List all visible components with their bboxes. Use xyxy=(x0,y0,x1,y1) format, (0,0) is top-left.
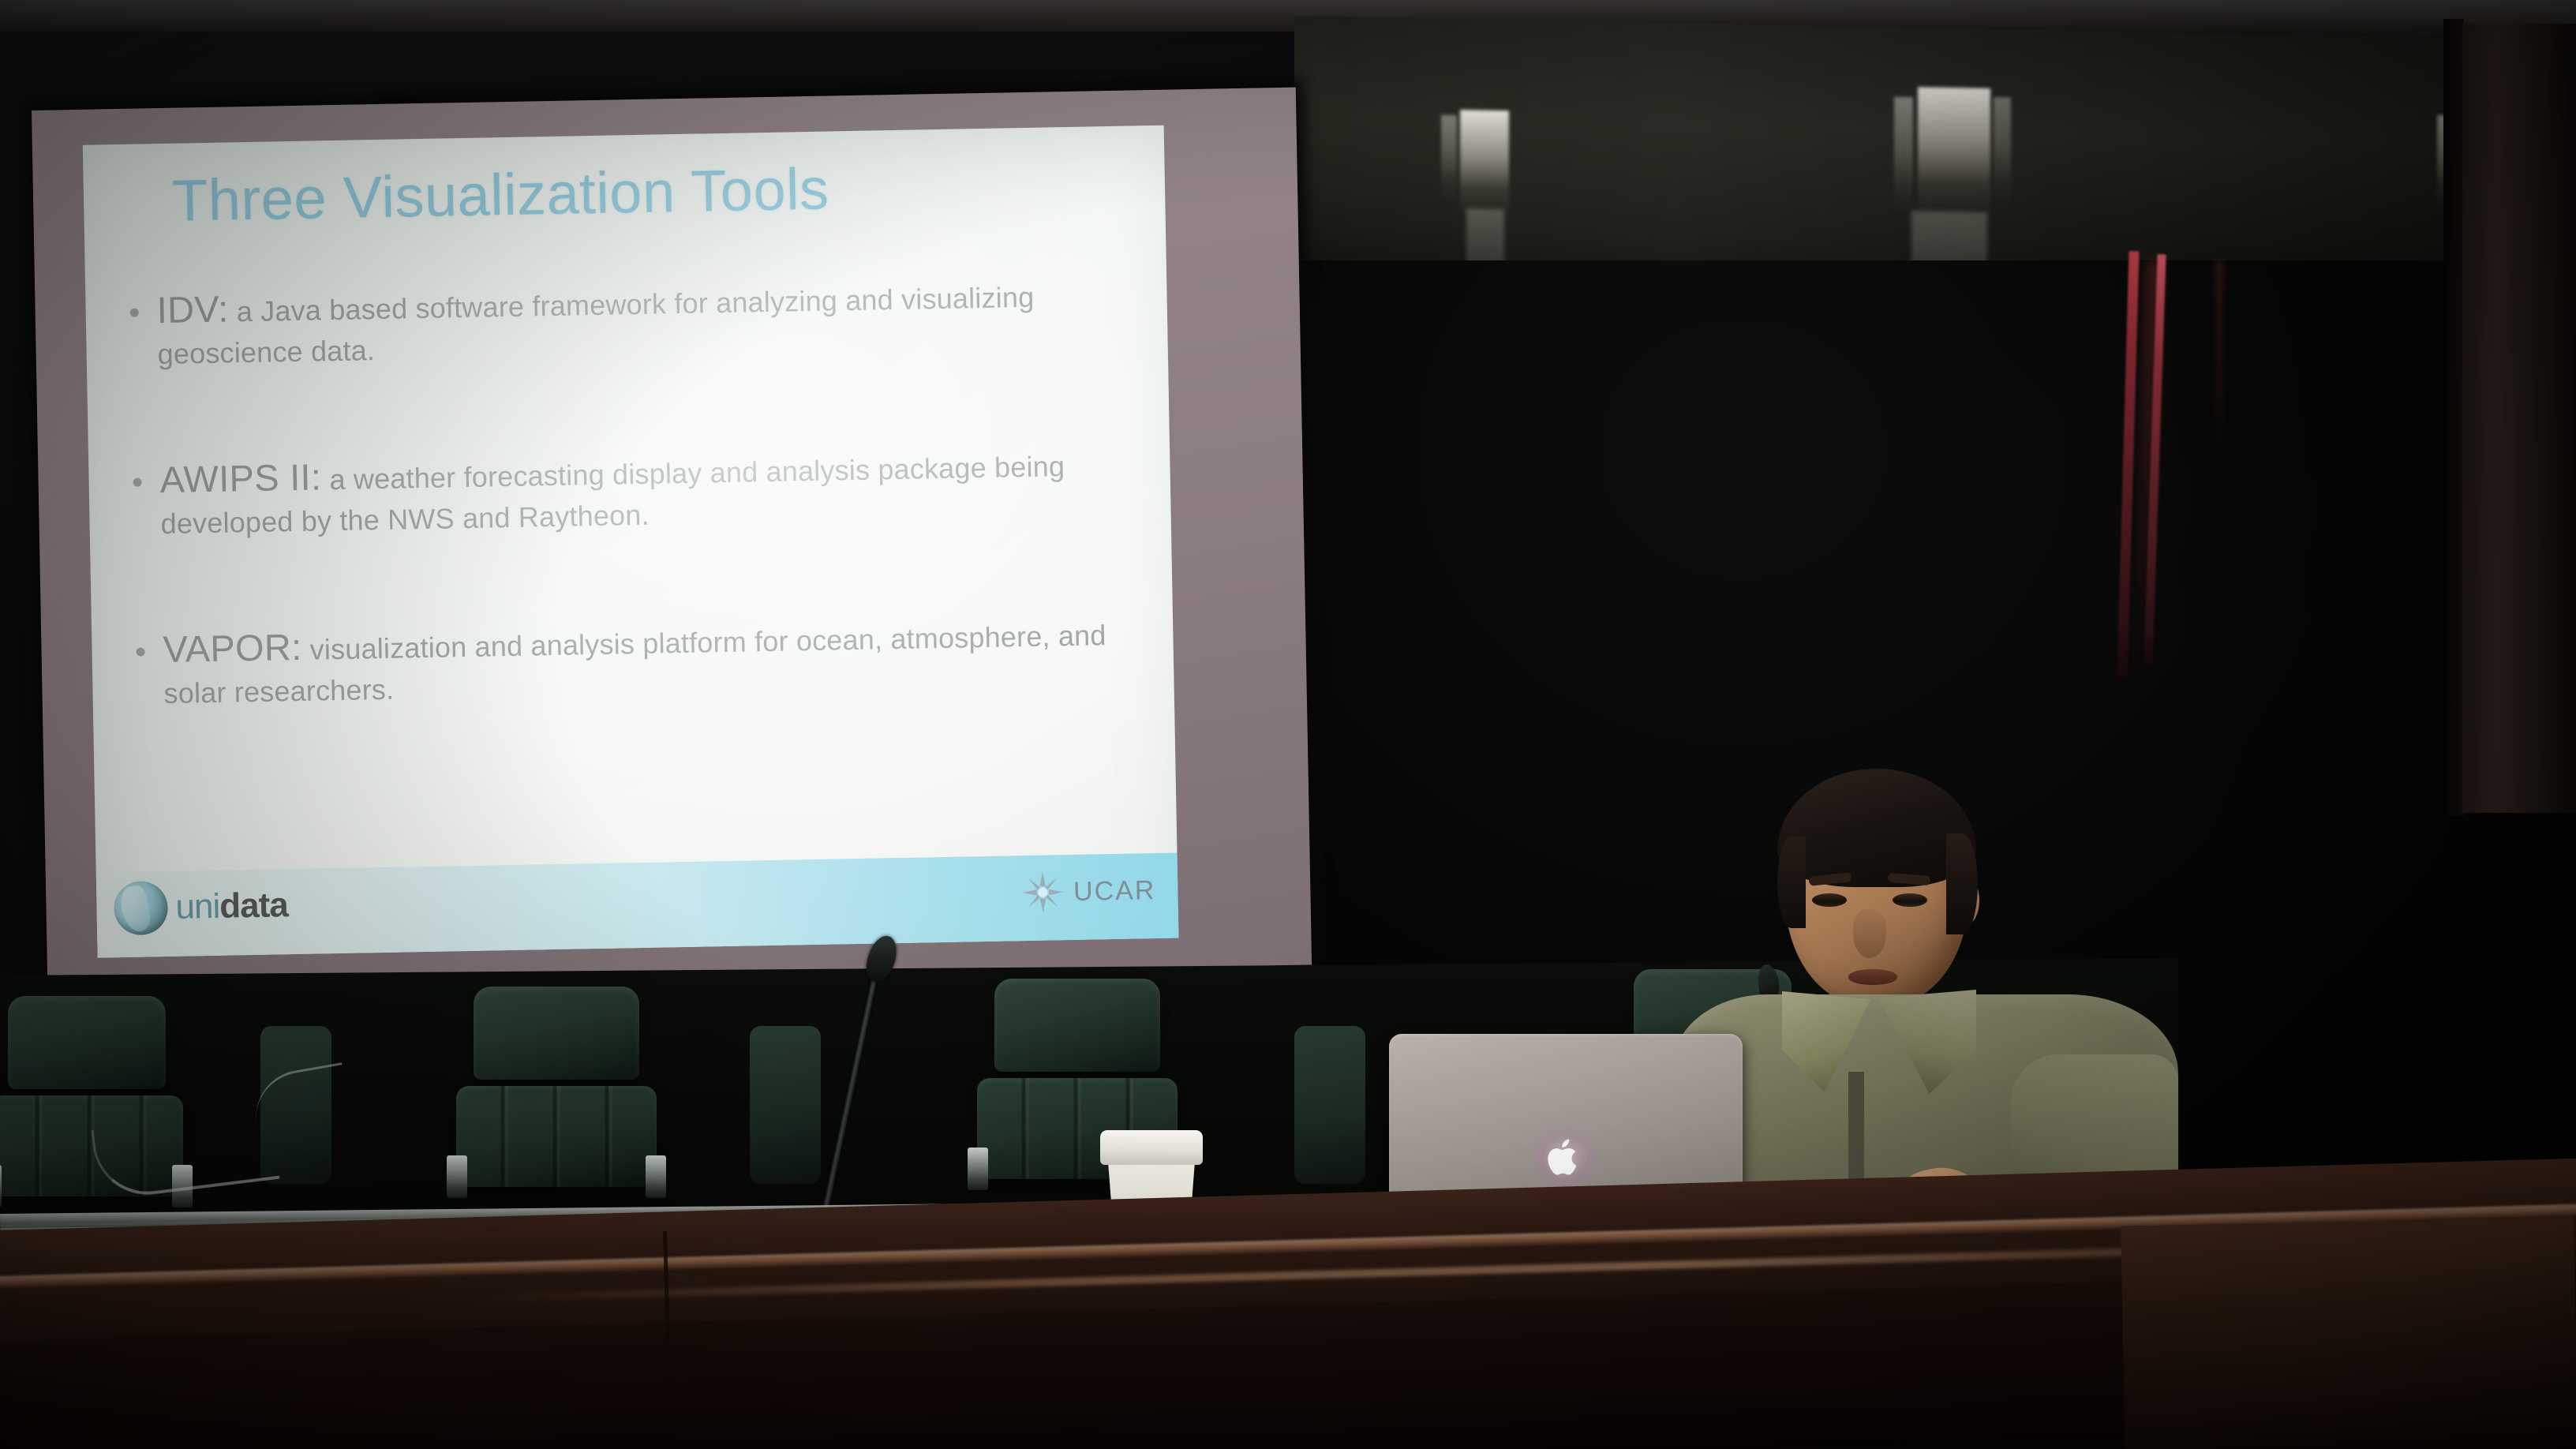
chair-headrest xyxy=(994,979,1160,1072)
desk-right-panel xyxy=(2121,1218,2576,1449)
chair-seatback xyxy=(456,1086,657,1187)
bullet-lead-label: VAPOR: xyxy=(163,626,302,670)
chair-headrest xyxy=(474,987,639,1080)
unidata-data-text: data xyxy=(219,885,288,926)
chair-grooves xyxy=(456,1086,657,1187)
presenter-hair-side xyxy=(1946,833,1978,934)
bullet-body-text: visualization and analysis platform for … xyxy=(163,620,1106,710)
light-reflection xyxy=(1894,97,1913,215)
presenter-eye xyxy=(1812,893,1847,907)
unidata-uni-text: uni xyxy=(175,887,220,927)
chair-armrest xyxy=(0,1165,2,1207)
apple-logo-icon xyxy=(1544,1133,1585,1181)
ucar-wordmark: UCAR xyxy=(1073,875,1156,908)
cup-lid xyxy=(1100,1130,1203,1165)
bullet-dot-icon xyxy=(133,478,142,487)
wall-column-edge xyxy=(2443,19,2464,816)
chair-armrest xyxy=(646,1155,666,1198)
light-reflection xyxy=(1994,97,2011,208)
slide-bullet-list: IDV: a Java based software framework for… xyxy=(115,268,1149,713)
chair-partial xyxy=(1294,1026,1365,1184)
presenter-hair-side xyxy=(1777,837,1806,928)
presenter-nose xyxy=(1853,909,1886,958)
presenter-eye xyxy=(1893,893,1927,907)
bullet-dot-icon xyxy=(137,648,145,657)
bullet-lead-label: AWIPS II: xyxy=(159,456,322,501)
slide-title: Three Visualization Tools xyxy=(171,151,1088,234)
curtain-edge-highlight xyxy=(2216,260,2222,458)
bullet-item-vapor: VAPOR: visualization and analysis platfo… xyxy=(122,608,1149,714)
light-reflection xyxy=(1460,110,1509,215)
bullet-item-idv: IDV: a Java based software framework for… xyxy=(115,268,1143,374)
bullet-body-text: a Java based software framework for anal… xyxy=(157,281,1034,370)
light-reflection xyxy=(1441,115,1457,204)
chair-armrest xyxy=(968,1148,988,1190)
chair-partial xyxy=(750,1026,821,1184)
bullet-dot-icon xyxy=(130,309,139,317)
chair-armrest xyxy=(447,1155,467,1198)
bullet-lead-label: IDV: xyxy=(156,287,229,331)
presentation-slide: Three Visualization Tools IDV: a Java ba… xyxy=(83,125,1179,958)
unidata-logo: unidata xyxy=(114,878,288,935)
presenter-mouth xyxy=(1848,969,1897,985)
unidata-wordmark: unidata xyxy=(175,885,288,927)
unidata-globe-icon xyxy=(114,881,168,935)
ucar-logo: UCAR xyxy=(1021,869,1156,914)
bullet-item-awips: AWIPS II: a weather forecasting display … xyxy=(118,437,1146,544)
light-reflection xyxy=(1918,87,1990,215)
projection-screen: Three Visualization Tools IDV: a Java ba… xyxy=(32,88,1310,987)
wall-column xyxy=(2462,24,2576,813)
conference-room-photo: Three Visualization Tools IDV: a Java ba… xyxy=(0,0,2576,1449)
chair-headrest xyxy=(8,996,166,1089)
conference-chair xyxy=(474,987,639,1192)
ucar-star-icon xyxy=(1021,871,1065,914)
